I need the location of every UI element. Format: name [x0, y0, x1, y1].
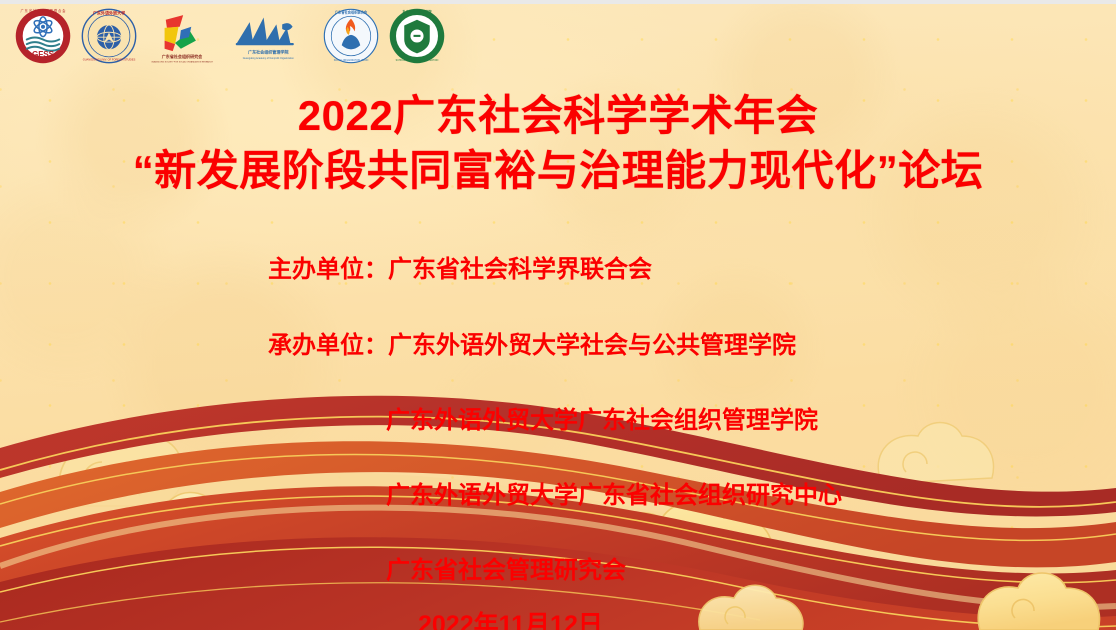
- gfss-logo-icon: GFSS 广 东 省 社 会 科 学 界 联 合 会: [14, 7, 72, 65]
- undertaker-row-1: 承办单位： 广东外语外贸大学社会与公共管理学院: [268, 334, 1116, 358]
- svg-text:广 东 省 社 会 科 学 界 联 合 会: 广 东 省 社 会 科 学 界 联 合 会: [21, 8, 67, 13]
- host-value: 广东省社会科学界联合会: [388, 258, 652, 282]
- undertaker-value-3: 广东外语外贸大学广东省社会组织研究中心: [386, 484, 842, 508]
- logo-gd-academy-nonprofit: 广东社会组织管理学院 Guangdong Academy of Nonprofi…: [226, 7, 314, 70]
- gfss-acronym: GFSS: [32, 49, 55, 58]
- svg-text:社会与公共管理学院: 社会与公共管理学院: [401, 8, 432, 13]
- host-label: 主办单位：: [268, 258, 388, 282]
- logo-gfss: GFSS 广 东 省 社 会 科 学 界 联 合 会: [14, 7, 72, 70]
- undertaker-value-2: 广东外语外贸大学广东社会组织管理学院: [386, 409, 818, 433]
- svg-text:广东省社会组织联合会: 广东省社会组织联合会: [335, 9, 368, 14]
- poster-title-line-2: “新发展阶段共同富裕与治理能力现代化”论坛: [0, 147, 1116, 194]
- logo-school-public-administration: 社会与公共管理学院 SCHOOL OF PUBLIC ADMINISTRATIO…: [388, 7, 446, 70]
- school-public-administration-logo-icon: 社会与公共管理学院 SCHOOL OF PUBLIC ADMINISTRATIO…: [388, 7, 446, 65]
- conference-poster: GFSS 广 东 省 社 会 科 学 界 联 合 会 广东外语外贸大学: [0, 0, 1116, 630]
- undertaker-row-3: 广东外语外贸大学广东省社会组织研究中心: [268, 484, 1116, 508]
- gd-academy-nonprofit-logo-icon: 广东社会组织管理学院 Guangdong Academy of Nonprofi…: [226, 7, 314, 65]
- gdufs-logo-icon: 广东外语外贸大学 GUANGDONG UNIV. OF FOREIGN STUD…: [80, 7, 138, 65]
- undertaker-value-1: 广东外语外贸大学社会与公共管理学院: [388, 334, 796, 358]
- svg-text:SOCIAL ORGANIZATION UNION: SOCIAL ORGANIZATION UNION: [334, 58, 369, 61]
- poster-title-line-1: 2022广东社会科学学术年会: [0, 92, 1116, 139]
- svg-text:广东省社会组织研究会: 广东省社会组织研究会: [162, 53, 203, 59]
- svg-text:SCHOOL OF PUBLIC ADMINISTRATIO: SCHOOL OF PUBLIC ADMINISTRATION: [396, 58, 439, 61]
- host-row: 主办单位： 广东省社会科学界联合会: [268, 258, 1116, 282]
- svg-text:广东外语外贸大学: 广东外语外贸大学: [93, 9, 125, 15]
- svg-text:GUANGDONG UNIV. OF FOREIGN STU: GUANGDONG UNIV. OF FOREIGN STUDIES: [83, 57, 136, 61]
- svg-text:广东社会组织管理学院: 广东社会组织管理学院: [248, 48, 288, 54]
- logo-strip: GFSS 广 东 省 社 会 科 学 界 联 合 会 广东外语外贸大学: [0, 4, 1116, 72]
- organizers-block: 主办单位： 广东省社会科学界联合会 承办单位： 广东外语外贸大学社会与公共管理学…: [0, 258, 1116, 630]
- event-date: 2022年11月12日: [418, 613, 1116, 630]
- svg-text:GUANGDONG SOCIETY FOR SOCIAL O: GUANGDONG SOCIETY FOR SOCIAL ORGANIZATIO…: [151, 60, 213, 63]
- title-block: 2022广东社会科学学术年会 “新发展阶段共同富裕与治理能力现代化”论坛: [0, 92, 1116, 194]
- svg-text:Guangdong Academy of Nonprofit: Guangdong Academy of Nonprofit Organizat…: [243, 57, 295, 60]
- undertaker-value-4: 广东省社会管理研究会: [386, 559, 626, 583]
- gz-social-org-union-logo-icon: 广东省社会组织联合会 SOCIAL ORGANIZATION UNION: [322, 7, 380, 65]
- logo-gd-social-org-research: 广东省社会组织研究会 GUANGDONG SOCIETY FOR SOCIAL …: [146, 7, 218, 70]
- undertaker-row-4: 广东省社会管理研究会: [268, 559, 1116, 583]
- gd-social-org-research-logo-icon: 广东省社会组织研究会 GUANGDONG SOCIETY FOR SOCIAL …: [146, 7, 218, 65]
- undertaker-row-2: 广东外语外贸大学广东社会组织管理学院: [268, 409, 1116, 433]
- undertaker-label: 承办单位：: [268, 334, 388, 358]
- logo-gdufs: 广东外语外贸大学 GUANGDONG UNIV. OF FOREIGN STUD…: [80, 7, 138, 70]
- top-rule: [0, 0, 1116, 4]
- logo-gz-social-org-union: 广东省社会组织联合会 SOCIAL ORGANIZATION UNION: [322, 7, 380, 70]
